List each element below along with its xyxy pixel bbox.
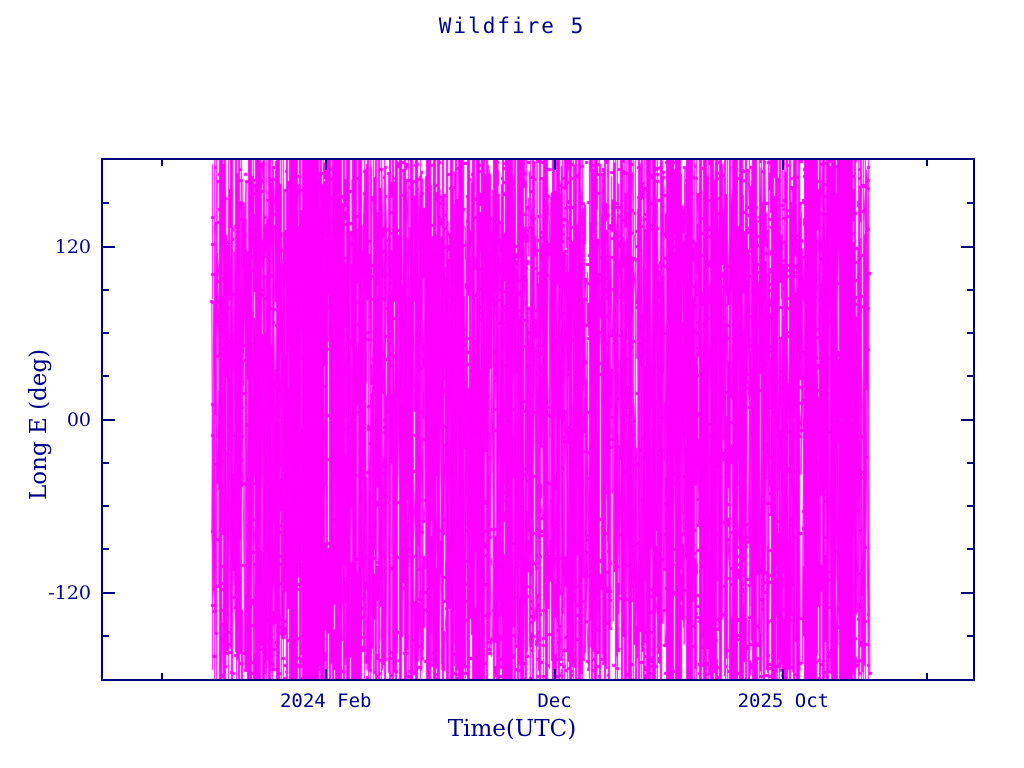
tick-mark (782, 158, 784, 170)
tick-mark (161, 158, 163, 166)
tick-mark (101, 419, 115, 421)
tick-mark (325, 669, 327, 681)
tick-mark (961, 592, 975, 594)
tick-mark (101, 246, 115, 248)
tick-mark (101, 332, 109, 334)
y-axis-label: Long E (deg) (26, 349, 52, 500)
tick-mark (967, 375, 975, 377)
tick-mark (961, 246, 975, 248)
data-series-canvas (103, 160, 973, 679)
tick-mark (554, 669, 556, 681)
tick-mark (967, 202, 975, 204)
y-tick-label: 120 (55, 236, 91, 258)
tick-mark (967, 635, 975, 637)
tick-mark (101, 548, 109, 550)
tick-mark (926, 158, 928, 166)
tick-mark (101, 505, 109, 507)
tick-mark (967, 332, 975, 334)
x-tick-label: 2024 Feb (280, 690, 372, 712)
tick-mark (967, 289, 975, 291)
tick-mark (101, 635, 109, 637)
tick-mark (101, 375, 109, 377)
x-axis-label: Time(UTC) (0, 716, 1024, 742)
y-tick-label: -120 (48, 582, 91, 604)
x-tick-label: 2025 Oct (738, 690, 830, 712)
tick-mark (554, 158, 556, 170)
y-tick-label: 00 (67, 409, 91, 431)
tick-mark (101, 202, 109, 204)
tick-mark (967, 548, 975, 550)
tick-mark (101, 289, 109, 291)
tick-mark (961, 419, 975, 421)
tick-mark (101, 462, 109, 464)
page-title: Wildfire 5 (0, 14, 1024, 38)
tick-mark (161, 673, 163, 681)
x-tick-label: Dec (537, 690, 571, 712)
plot-area (101, 158, 975, 681)
tick-mark (325, 158, 327, 170)
tick-mark (101, 592, 115, 594)
tick-mark (967, 505, 975, 507)
tick-mark (926, 673, 928, 681)
plot-figure: Wildfire 5 Long E (deg) Time(UTC) 12000-… (0, 0, 1024, 768)
tick-mark (967, 462, 975, 464)
tick-mark (782, 669, 784, 681)
